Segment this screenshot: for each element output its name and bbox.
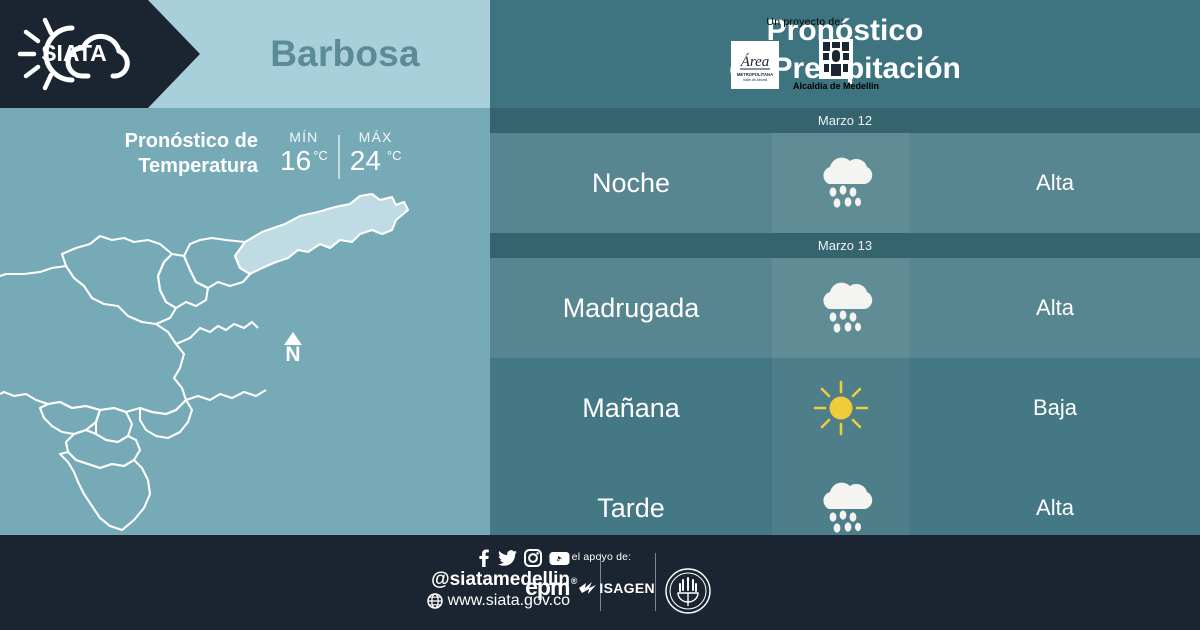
footer: @siatamedellin www.siata.gov.co Con el a… <box>0 535 1200 630</box>
map-region-caldas <box>60 452 150 530</box>
project-logos: Área METROPOLITANA Valle de Aburrá <box>715 39 895 91</box>
map-region-east-edge <box>186 390 266 400</box>
temperature-title-line2: Temperatura <box>0 154 258 179</box>
epm-logo: epm® <box>525 574 569 601</box>
left-header: SIATA Barbosa <box>0 0 490 108</box>
forecast-probability: Alta <box>910 170 1200 196</box>
map-region-envigado <box>140 400 192 438</box>
temperature-title-line1: Pronóstico de <box>0 129 258 154</box>
temperature-min-label: MÍN <box>289 129 318 145</box>
alcaldia-label: Alcaldía de Medellín <box>793 81 879 91</box>
globe-icon <box>427 593 443 609</box>
left-panel: SIATA Barbosa Pronóstico de Temperatura … <box>0 0 490 535</box>
forecast-probability: Alta <box>910 295 1200 321</box>
rain-cloud-icon <box>772 133 910 233</box>
compass-rose: N <box>276 332 310 365</box>
footer-divider-2 <box>655 553 656 611</box>
compass-label: N <box>276 344 310 365</box>
map-region-barbosa-north-edge <box>176 322 258 344</box>
isagen-mark-icon <box>579 581 596 595</box>
rain-cloud-icon <box>772 258 910 358</box>
svg-text:METROPOLITANA: METROPOLITANA <box>737 72 773 77</box>
project-caption: Un proyecto de: <box>715 16 895 28</box>
temperature-map-panel: Pronóstico de Temperatura MÍN 16 °C MÁX <box>0 108 490 535</box>
temperature-min-value-group: 16 °C <box>280 145 328 177</box>
map-svg <box>0 182 490 535</box>
forecast-row-madrugada[interactable]: Madrugada Alta <box>490 258 1200 358</box>
city-name: Barbosa <box>200 0 490 108</box>
temperature-max-value-group: 24 °C <box>350 145 402 177</box>
forecast-period-label: Mañana <box>490 393 772 424</box>
temperature-min-unit: °C <box>311 145 328 164</box>
temperature-summary: Pronóstico de Temperatura MÍN 16 °C MÁX <box>0 122 490 186</box>
forecast-period-label: Tarde <box>490 493 772 524</box>
forecast-period-label: Noche <box>490 168 772 199</box>
temperature-min-value: 16 <box>280 145 311 177</box>
epm-logo-text: epm <box>525 574 569 600</box>
alcaldia-mark-icon <box>819 39 853 79</box>
temperature-max: MÁX 24 °C <box>340 129 412 177</box>
date-band-2: Marzo 13 <box>490 233 1200 258</box>
forecast-period-label: Madrugada <box>490 293 772 324</box>
map-region-bello <box>62 236 176 324</box>
map-region-boundary-west <box>0 266 66 276</box>
support-caption: Con el apoyo de: <box>505 551 675 563</box>
weather-forecast-card: SIATA Barbosa Pronóstico de Temperatura … <box>0 0 1200 630</box>
alcaldia-medellin-logo: Alcaldía de Medellín <box>793 39 879 91</box>
isagen-logo: ISAGEN <box>579 580 654 596</box>
temperature-max-value: 24 <box>350 145 381 177</box>
temperature-max-unit: °C <box>381 145 402 164</box>
map-region-barbosa <box>235 194 408 274</box>
epm-registered-mark: ® <box>571 576 577 586</box>
forecast-probability: Baja <box>910 395 1200 421</box>
forecast-row-manana[interactable]: Mañana <box>490 358 1200 458</box>
forecast-row-noche[interactable]: Noche Alta <box>490 133 1200 233</box>
project-block: Un proyecto de: Área METROPOLITANA Valle… <box>715 16 895 91</box>
isagen-logo-text: ISAGEN <box>599 580 654 596</box>
area-metropolitana-logo: Área METROPOLITANA Valle de Aburrá <box>731 41 779 89</box>
sun-cloud-icon: SIATA <box>14 14 138 94</box>
forecast-probability: Alta <box>910 495 1200 521</box>
facebook-icon[interactable] <box>476 549 491 567</box>
temperature-values: MÍN 16 °C MÁX 24 °C <box>270 129 412 179</box>
svg-text:Valle de Aburrá: Valle de Aburrá <box>743 78 767 82</box>
siata-logo-text: SIATA <box>41 40 107 66</box>
udea-seal-icon <box>665 568 711 614</box>
temperature-max-label: MÁX <box>359 129 393 145</box>
sun-icon <box>772 358 910 458</box>
siata-logo-badge: SIATA <box>0 0 200 108</box>
support-logos: epm® ISAGEN <box>505 574 675 601</box>
forecast-rows: Marzo 12 Noche <box>490 108 1200 535</box>
municipality-map: N <box>0 182 490 535</box>
support-block: Con el apoyo de: epm® ISAGEN <box>505 551 675 601</box>
map-region-itagui <box>40 402 100 434</box>
date-band-1: Marzo 12 <box>490 108 1200 133</box>
map-region-medellin <box>0 324 186 414</box>
svg-text:Área: Área <box>740 53 770 70</box>
temperature-min: MÍN 16 °C <box>270 129 338 177</box>
temperature-title: Pronóstico de Temperatura <box>0 129 270 179</box>
